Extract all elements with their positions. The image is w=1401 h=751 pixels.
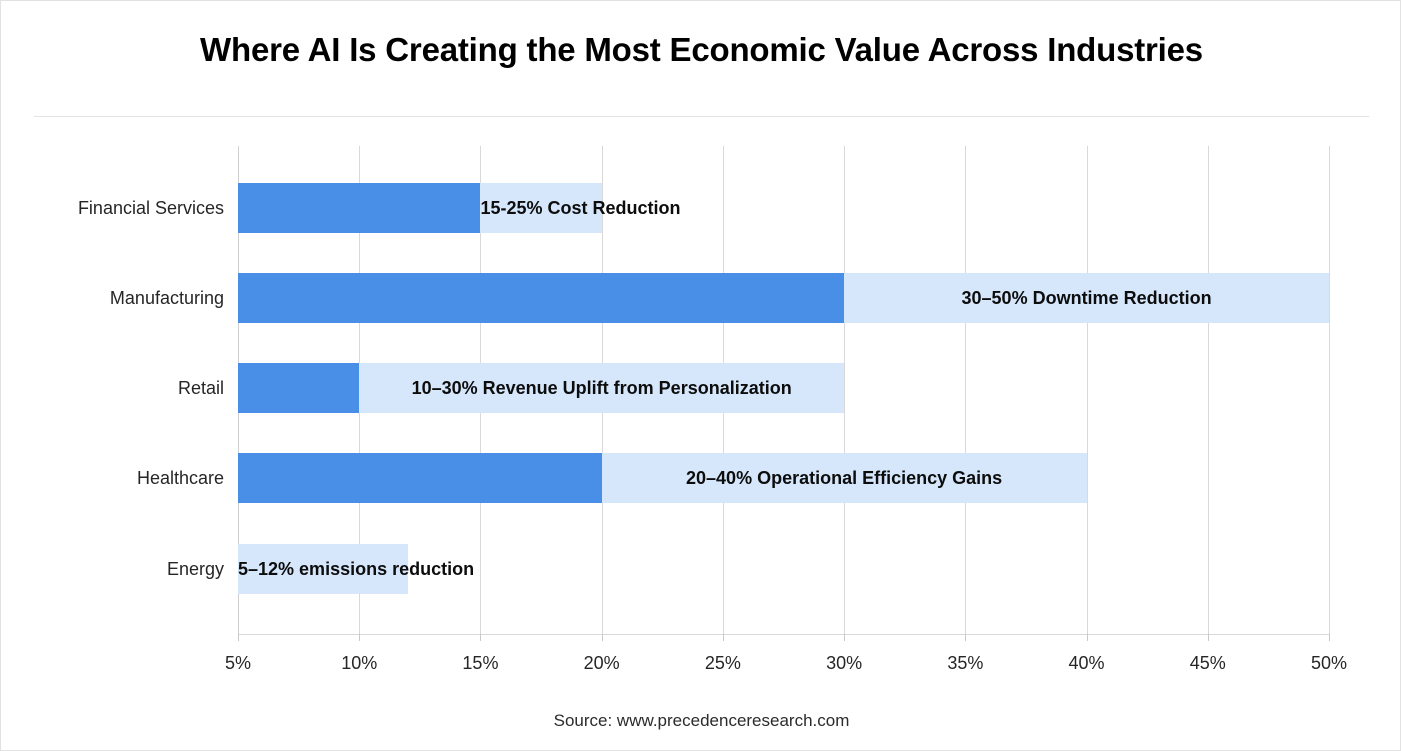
title-divider [34, 116, 1369, 117]
bar-data-label: 20–40% Operational Efficiency Gains [602, 453, 1087, 503]
category-label-financial-services: Financial Services [0, 183, 224, 233]
x-tick-mark [1208, 634, 1209, 641]
x-tick-label: 25% [705, 653, 741, 674]
x-tick-label: 35% [947, 653, 983, 674]
x-tick-label: 50% [1311, 653, 1347, 674]
bar-value-segment[interactable] [238, 453, 602, 503]
x-tick-label: 45% [1190, 653, 1226, 674]
bar-value-segment[interactable] [238, 363, 359, 413]
category-label-retail: Retail [0, 363, 224, 413]
category-label-healthcare: Healthcare [0, 453, 224, 503]
x-tick-mark [602, 634, 603, 641]
category-label-manufacturing: Manufacturing [0, 273, 224, 323]
x-tick-label: 20% [584, 653, 620, 674]
x-tick-label: 30% [826, 653, 862, 674]
bar-data-label: 5–12% emissions reduction [238, 544, 408, 594]
bar-value-segment[interactable] [238, 183, 480, 233]
page-title: Where AI Is Creating the Most Economic V… [1, 31, 1401, 69]
bar-data-label: 15-25% Cost Reduction [480, 183, 601, 233]
chart-card: Where AI Is Creating the Most Economic V… [0, 0, 1401, 751]
x-tick-mark [1087, 634, 1088, 641]
x-tick-mark [723, 634, 724, 641]
gridline-50 [1329, 146, 1330, 634]
x-axis-line [238, 634, 1329, 635]
x-tick-mark [965, 634, 966, 641]
category-label-energy: Energy [0, 544, 224, 594]
bar-data-label: 30–50% Downtime Reduction [844, 273, 1329, 323]
source-note: Source: www.precedenceresearch.com [1, 711, 1401, 731]
x-tick-label: 40% [1069, 653, 1105, 674]
x-tick-mark [238, 634, 239, 641]
x-tick-label: 5% [225, 653, 251, 674]
x-tick-label: 10% [341, 653, 377, 674]
x-tick-mark [1329, 634, 1330, 641]
x-tick-mark [480, 634, 481, 641]
x-tick-mark [359, 634, 360, 641]
bar-data-label: 10–30% Revenue Uplift from Personalizati… [359, 363, 844, 413]
bar-value-segment[interactable] [238, 273, 844, 323]
x-tick-label: 15% [462, 653, 498, 674]
bar-row[interactable] [238, 183, 1329, 233]
x-tick-mark [844, 634, 845, 641]
